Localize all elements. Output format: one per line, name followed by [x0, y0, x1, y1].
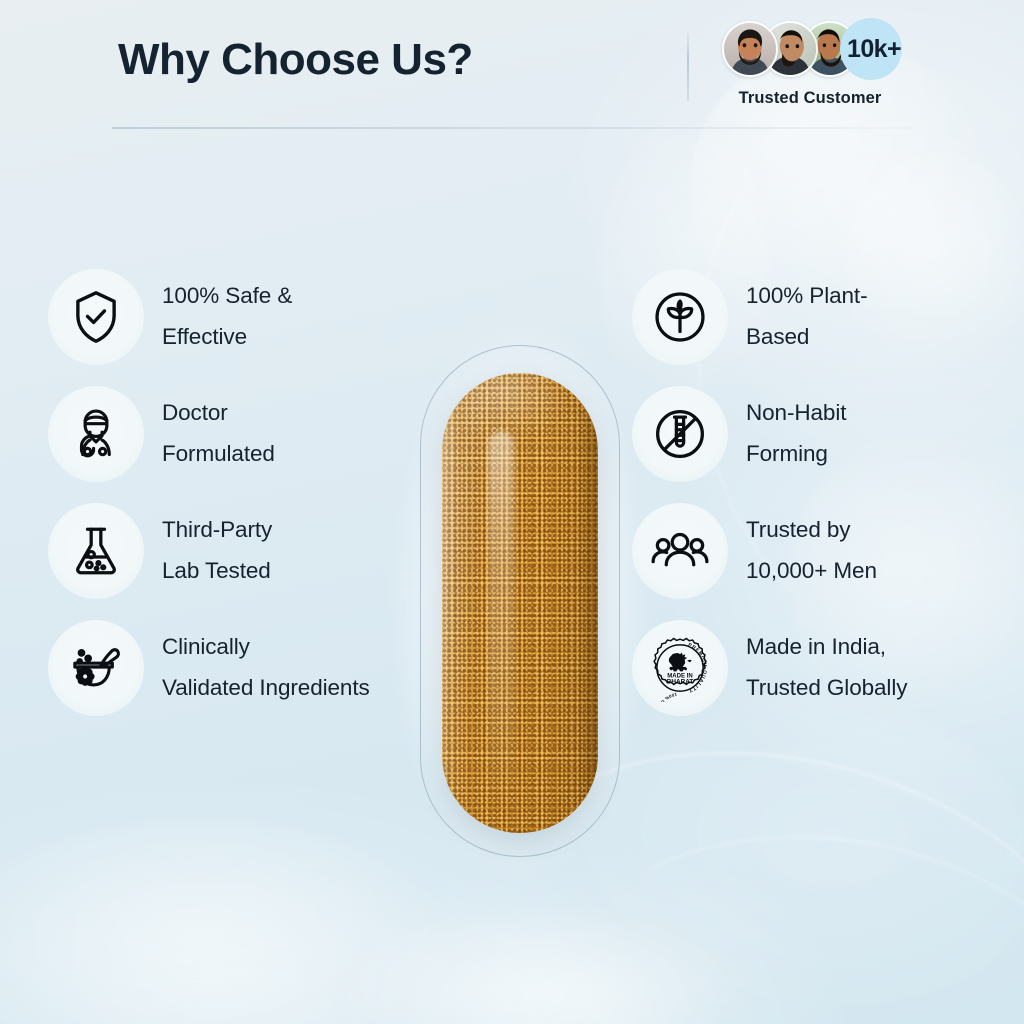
- feature-column-right: 100% Plant- Based Non-Habit Forming: [632, 258, 1024, 726]
- feature-label-line2: Trusted Globally: [746, 675, 907, 700]
- feature-item-made-in-india: PREMIUM QUALITY 100% ORIGINAL PRODUCT MA…: [632, 609, 1024, 726]
- feature-item-trusted-by-men: Trusted by 10,000+ Men: [632, 492, 1024, 609]
- group-people-icon: [632, 503, 728, 599]
- feature-label-line1: Doctor: [162, 400, 228, 425]
- trusted-customer-label: Trusted Customer: [722, 89, 898, 108]
- avatar-photo-1: [724, 23, 776, 75]
- svg-text:100% ORIGINAL PRODUCT: 100% ORIGINAL PRODUCT: [654, 691, 677, 701]
- feature-label: Made in India, Trusted Globally: [746, 627, 907, 707]
- background-bubble-5: [0, 820, 460, 1024]
- shield-check-icon: [48, 269, 144, 365]
- header-vertical-divider: [687, 31, 689, 101]
- feature-label-line2: Validated Ingredients: [162, 675, 370, 700]
- product-capsule: [420, 345, 620, 857]
- seal-top-text: PREMIUM QUALITY: [687, 642, 708, 694]
- feature-label-line2: Formulated: [162, 441, 275, 466]
- feature-label-line1: 100% Safe &: [162, 283, 292, 308]
- feature-label: 100% Plant- Based: [746, 276, 867, 356]
- feature-label-line1: Trusted by: [746, 517, 850, 542]
- made-in-bharat-icon: PREMIUM QUALITY 100% ORIGINAL PRODUCT MA…: [632, 620, 728, 716]
- feature-label-line1: Made in India,: [746, 634, 886, 659]
- customer-avatar-1: [722, 21, 778, 77]
- lab-flask-icon: [48, 503, 144, 599]
- header-divider: [112, 127, 912, 129]
- feature-label-line1: Clinically: [162, 634, 250, 659]
- seal-center-line2: BHARAT: [667, 678, 694, 685]
- plant-leaf-icon: [632, 269, 728, 365]
- feature-item-non-habit-forming: Non-Habit Forming: [632, 375, 1024, 492]
- feature-label: Clinically Validated Ingredients: [162, 627, 370, 707]
- feature-label-line1: 100% Plant-: [746, 283, 867, 308]
- feature-label: Trusted by 10,000+ Men: [746, 510, 877, 590]
- feature-label-line2: Effective: [162, 324, 247, 349]
- feature-label: Non-Habit Forming: [746, 393, 846, 473]
- feature-label: Doctor Formulated: [162, 393, 275, 473]
- mortar-pestle-icon: [48, 620, 144, 716]
- feature-label: 100% Safe & Effective: [162, 276, 292, 356]
- trusted-customer-badge: 10k+ Trusted Customer: [722, 18, 922, 108]
- feature-label-line2: Based: [746, 324, 809, 349]
- feature-item-plant-based: 100% Plant- Based: [632, 258, 1024, 375]
- no-test-tube-icon: [632, 386, 728, 482]
- customer-count-bubble: 10k+: [840, 18, 902, 80]
- header: Why Choose Us?: [0, 0, 1024, 130]
- doctor-icon: [48, 386, 144, 482]
- feature-label-line2: 10,000+ Men: [746, 558, 877, 583]
- why-choose-us-infographic: Why Choose Us?: [0, 0, 1024, 1024]
- page-title: Why Choose Us?: [118, 35, 473, 85]
- svg-text:PREMIUM QUALITY: PREMIUM QUALITY: [687, 642, 708, 694]
- background-bubble-6: [330, 900, 750, 1024]
- feature-label-line1: Third-Party: [162, 517, 272, 542]
- feature-label-line2: Lab Tested: [162, 558, 271, 583]
- customer-count-text: 10k+: [847, 35, 901, 64]
- supplement-capsule-photo: [442, 373, 598, 833]
- feature-label: Third-Party Lab Tested: [162, 510, 272, 590]
- capsule-highlight: [488, 431, 514, 811]
- feature-label-line1: Non-Habit: [746, 400, 846, 425]
- seal-bottom-text: 100% ORIGINAL PRODUCT: [654, 691, 677, 701]
- avatar-group: 10k+: [722, 18, 922, 80]
- feature-label-line2: Forming: [746, 441, 828, 466]
